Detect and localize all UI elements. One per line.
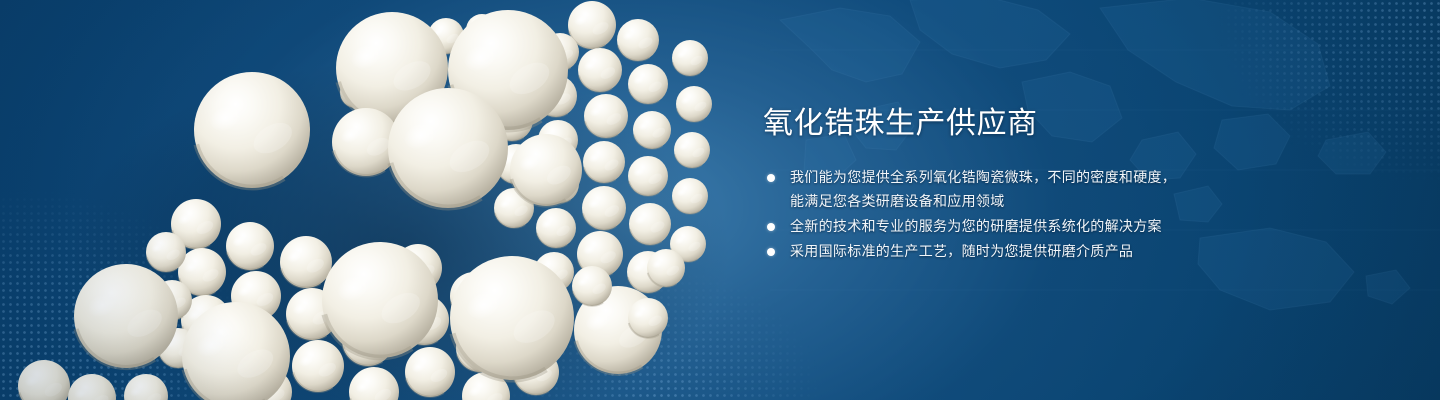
list-item: 采用国际标准的生产工艺，随时为您提供研磨介质产品 (763, 240, 1283, 264)
bullet-line: 我们能为您提供全系列氧化锆陶瓷微珠，不同的密度和硬度， (790, 166, 1283, 190)
page-title: 氧化锆珠生产供应商 (763, 104, 1283, 144)
bullet-dot-icon (767, 223, 775, 231)
bullet-dot-icon (767, 174, 775, 182)
bullet-line: 采用国际标准的生产工艺，随时为您提供研磨介质产品 (790, 240, 1283, 264)
feature-bullet-list: 我们能为您提供全系列氧化锆陶瓷微珠，不同的密度和硬度， 能满足您各类研磨设备和应… (763, 166, 1283, 264)
list-item: 全新的技术和专业的服务为您的研磨提供系统化的解决方案 (763, 215, 1283, 239)
bullet-line: 能满足您各类研磨设备和应用领域 (790, 190, 1283, 214)
bullet-line: 全新的技术和专业的服务为您的研磨提供系统化的解决方案 (790, 215, 1283, 239)
banner-copy-block: 氧化锆珠生产供应商 我们能为您提供全系列氧化锆陶瓷微珠，不同的密度和硬度， 能满… (763, 104, 1283, 265)
list-item: 我们能为您提供全系列氧化锆陶瓷微珠，不同的密度和硬度， 能满足您各类研磨设备和应… (763, 166, 1283, 214)
hero-banner: 氧化锆珠生产供应商 我们能为您提供全系列氧化锆陶瓷微珠，不同的密度和硬度， 能满… (0, 0, 1440, 400)
bullet-dot-icon (767, 248, 775, 256)
